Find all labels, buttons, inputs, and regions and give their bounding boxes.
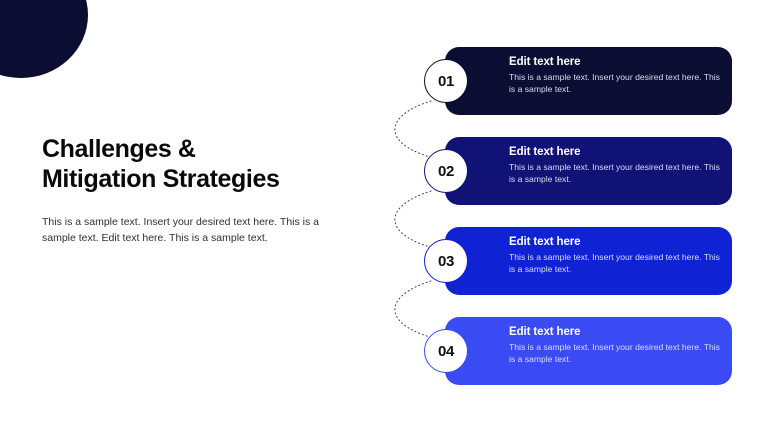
step-card[interactable]: Edit text here This is a sample text. In… [445, 227, 732, 295]
step-item[interactable]: Edit text here This is a sample text. In… [424, 47, 734, 115]
step-title: Edit text here [509, 326, 716, 338]
step-number: 01 [438, 73, 454, 90]
step-description: This is a sample text. Insert your desir… [509, 161, 721, 186]
steps-list: Edit text here This is a sample text. In… [0, 0, 768, 432]
step-title: Edit text here [509, 56, 716, 68]
step-item[interactable]: Edit text here This is a sample text. In… [424, 317, 734, 385]
step-number-badge[interactable]: 03 [424, 239, 468, 283]
step-description: This is a sample text. Insert your desir… [509, 341, 721, 366]
step-item[interactable]: Edit text here This is a sample text. In… [424, 227, 734, 295]
step-card[interactable]: Edit text here This is a sample text. In… [445, 47, 732, 115]
step-title: Edit text here [509, 236, 716, 248]
step-description: This is a sample text. Insert your desir… [509, 251, 721, 276]
step-number: 04 [438, 343, 454, 360]
step-number-badge[interactable]: 04 [424, 329, 468, 373]
step-number: 03 [438, 253, 454, 270]
step-description: This is a sample text. Insert your desir… [509, 71, 721, 96]
step-number-badge[interactable]: 01 [424, 59, 468, 103]
step-number: 02 [438, 163, 454, 180]
step-title: Edit text here [509, 146, 716, 158]
step-card[interactable]: Edit text here This is a sample text. In… [445, 317, 732, 385]
step-number-badge[interactable]: 02 [424, 149, 468, 193]
step-item[interactable]: Edit text here This is a sample text. In… [424, 137, 734, 205]
step-card[interactable]: Edit text here This is a sample text. In… [445, 137, 732, 205]
